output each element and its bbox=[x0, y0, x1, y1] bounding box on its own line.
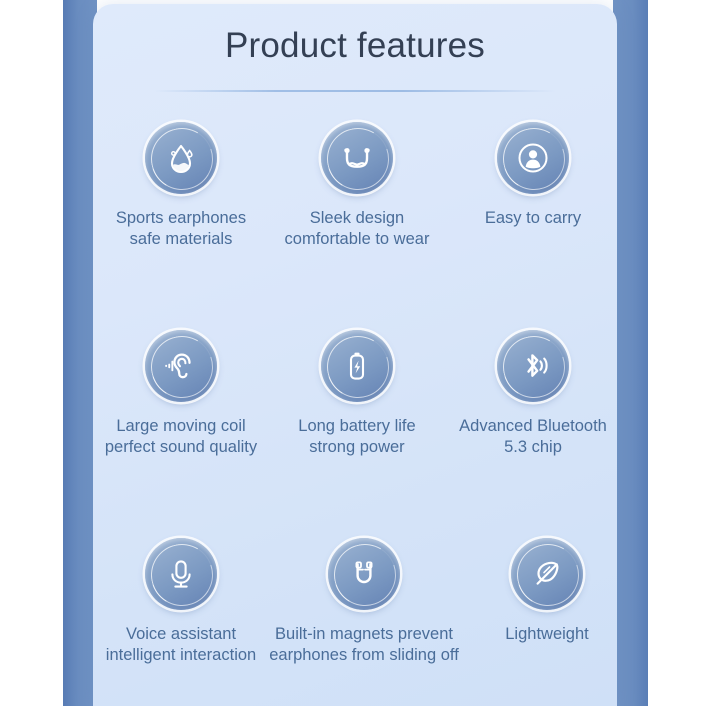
page-title: Product features bbox=[93, 26, 617, 66]
bluetooth-icon bbox=[512, 345, 554, 387]
neckband-earphones-icon bbox=[336, 137, 378, 179]
feature-item-moving-coil[interactable]: Large moving coil perfect sound quality bbox=[93, 330, 269, 538]
product-features-slide: Product features Sports earphones safe m… bbox=[0, 0, 706, 706]
feature-badge bbox=[145, 330, 217, 402]
feature-caption: Built-in magnets prevent earphones from … bbox=[269, 624, 459, 666]
feature-badge bbox=[328, 538, 400, 610]
features-row: Sports earphones safe materials Sleek de… bbox=[93, 122, 617, 330]
feature-badge bbox=[321, 122, 393, 194]
feature-item-bluetooth[interactable]: Advanced Bluetooth 5.3 chip bbox=[445, 330, 617, 538]
feature-caption: Voice assistant intelligent interaction bbox=[93, 624, 269, 666]
feature-item-sleek-design[interactable]: Sleek design comfortable to wear bbox=[269, 122, 445, 330]
feature-caption: Sleek design comfortable to wear bbox=[269, 208, 445, 250]
feature-caption: Sports earphones safe materials bbox=[93, 208, 269, 250]
feature-badge bbox=[497, 330, 569, 402]
feature-caption: Large moving coil perfect sound quality bbox=[93, 416, 269, 458]
feature-panel: Product features Sports earphones safe m… bbox=[93, 4, 617, 706]
features-grid: Sports earphones safe materials Sleek de… bbox=[93, 122, 617, 706]
right-blue-rail bbox=[613, 0, 648, 706]
title-divider bbox=[155, 90, 555, 92]
feature-item-battery-life[interactable]: Long battery life strong power bbox=[269, 330, 445, 538]
feature-caption: Easy to carry bbox=[445, 208, 617, 229]
features-row: Large moving coil perfect sound quality … bbox=[93, 330, 617, 538]
feature-item-magnets[interactable]: Built-in magnets prevent earphones from … bbox=[269, 538, 459, 706]
feature-item-lightweight[interactable]: Lightweight bbox=[459, 538, 617, 706]
left-blue-rail bbox=[63, 0, 97, 706]
feature-badge bbox=[145, 122, 217, 194]
ear-soundwave-icon bbox=[160, 345, 202, 387]
microphone-icon bbox=[161, 554, 201, 594]
feature-caption: Advanced Bluetooth 5.3 chip bbox=[445, 416, 617, 458]
feature-badge bbox=[321, 330, 393, 402]
feature-item-easy-to-carry[interactable]: Easy to carry bbox=[445, 122, 617, 330]
feature-caption: Long battery life strong power bbox=[269, 416, 445, 458]
feature-badge bbox=[511, 538, 583, 610]
water-drop-icon bbox=[161, 138, 201, 178]
feather-icon bbox=[526, 553, 568, 595]
magnet-icon bbox=[344, 554, 384, 594]
feature-item-voice-assistant[interactable]: Voice assistant intelligent interaction bbox=[93, 538, 269, 706]
feature-badge bbox=[497, 122, 569, 194]
battery-charging-icon bbox=[337, 346, 377, 386]
feature-item-waterproof[interactable]: Sports earphones safe materials bbox=[93, 122, 269, 330]
feature-caption: Lightweight bbox=[459, 624, 617, 645]
features-row: Voice assistant intelligent interaction … bbox=[93, 538, 617, 706]
feature-badge bbox=[145, 538, 217, 610]
person-icon bbox=[513, 138, 553, 178]
